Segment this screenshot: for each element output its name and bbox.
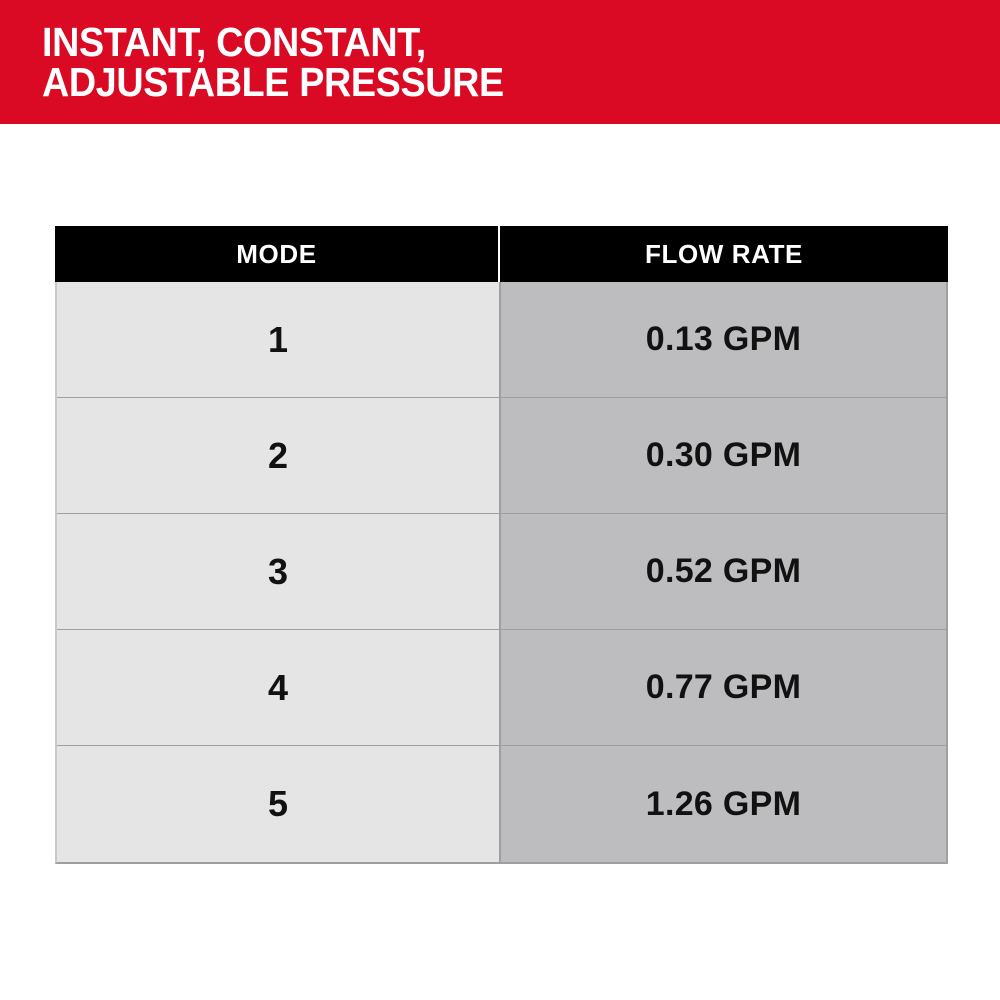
cell-mode: 5 <box>57 746 501 862</box>
cell-mode: 1 <box>57 282 501 397</box>
cell-flow-rate: 0.77 GPM <box>501 630 946 745</box>
cell-mode: 2 <box>57 398 501 513</box>
cell-flow-rate: 0.30 GPM <box>501 398 946 513</box>
column-header-flow-rate: FLOW RATE <box>500 226 948 282</box>
cell-flow-rate: 0.13 GPM <box>501 282 946 397</box>
cell-flow-rate: 1.26 GPM <box>501 746 946 862</box>
table-row: 5 1.26 GPM <box>57 746 946 862</box>
banner-title: INSTANT, CONSTANT, ADJUSTABLE PRESSURE <box>42 22 852 102</box>
flow-rate-table: MODE FLOW RATE 1 0.13 GPM 2 0.30 GPM 3 0… <box>55 226 948 862</box>
cell-mode: 3 <box>57 514 501 629</box>
table-header-row: MODE FLOW RATE <box>55 226 948 282</box>
cell-flow-rate: 0.52 GPM <box>501 514 946 629</box>
table-body: 1 0.13 GPM 2 0.30 GPM 3 0.52 GPM 4 0.77 … <box>55 282 948 864</box>
spec-sheet-page: INSTANT, CONSTANT, ADJUSTABLE PRESSURE M… <box>0 0 1000 1000</box>
table-row: 4 0.77 GPM <box>57 630 946 746</box>
header-banner: INSTANT, CONSTANT, ADJUSTABLE PRESSURE <box>0 0 1000 124</box>
table-row: 2 0.30 GPM <box>57 398 946 514</box>
table-row: 3 0.52 GPM <box>57 514 946 630</box>
table-row: 1 0.13 GPM <box>57 282 946 398</box>
cell-mode: 4 <box>57 630 501 745</box>
column-header-mode: MODE <box>55 226 500 282</box>
